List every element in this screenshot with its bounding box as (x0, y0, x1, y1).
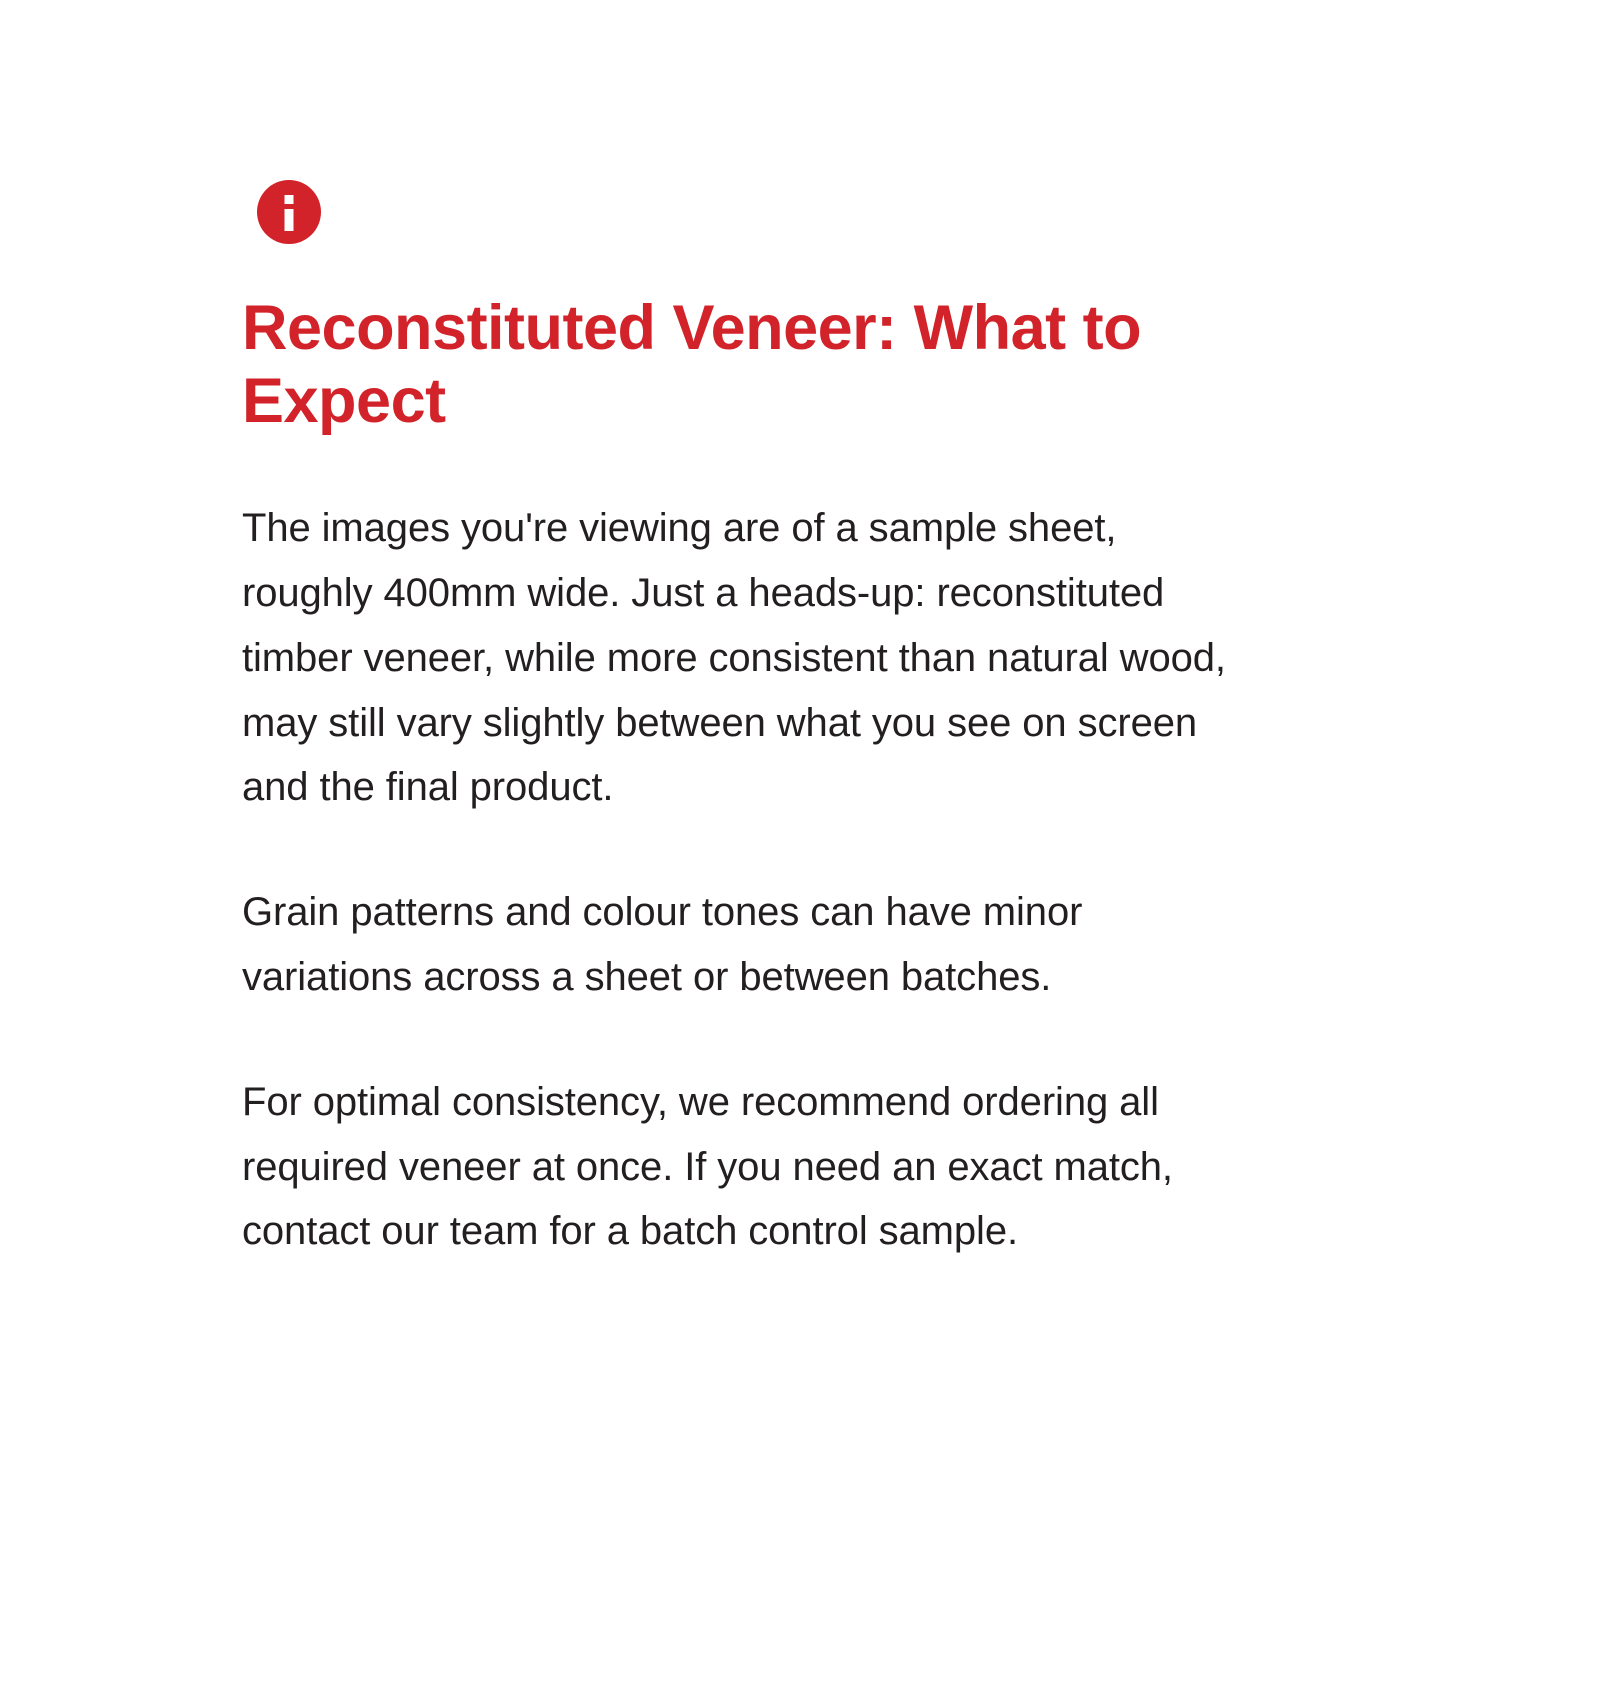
info-icon-stem (285, 209, 294, 231)
body-copy: The images you're viewing are of a sampl… (242, 496, 1242, 1264)
info-icon (257, 180, 321, 244)
content-column: Reconstituted Veneer: What to Expect The… (242, 180, 1252, 1264)
info-icon-wrap (257, 180, 321, 244)
info-icon-dot (285, 195, 294, 204)
body-paragraph: For optimal consistency, we recommend or… (242, 1070, 1242, 1264)
body-paragraph: The images you're viewing are of a sampl… (242, 496, 1242, 820)
info-notice-panel: Reconstituted Veneer: What to Expect The… (0, 0, 1620, 1686)
page-title: Reconstituted Veneer: What to Expect (242, 292, 1242, 438)
body-paragraph: Grain patterns and colour tones can have… (242, 880, 1242, 1010)
